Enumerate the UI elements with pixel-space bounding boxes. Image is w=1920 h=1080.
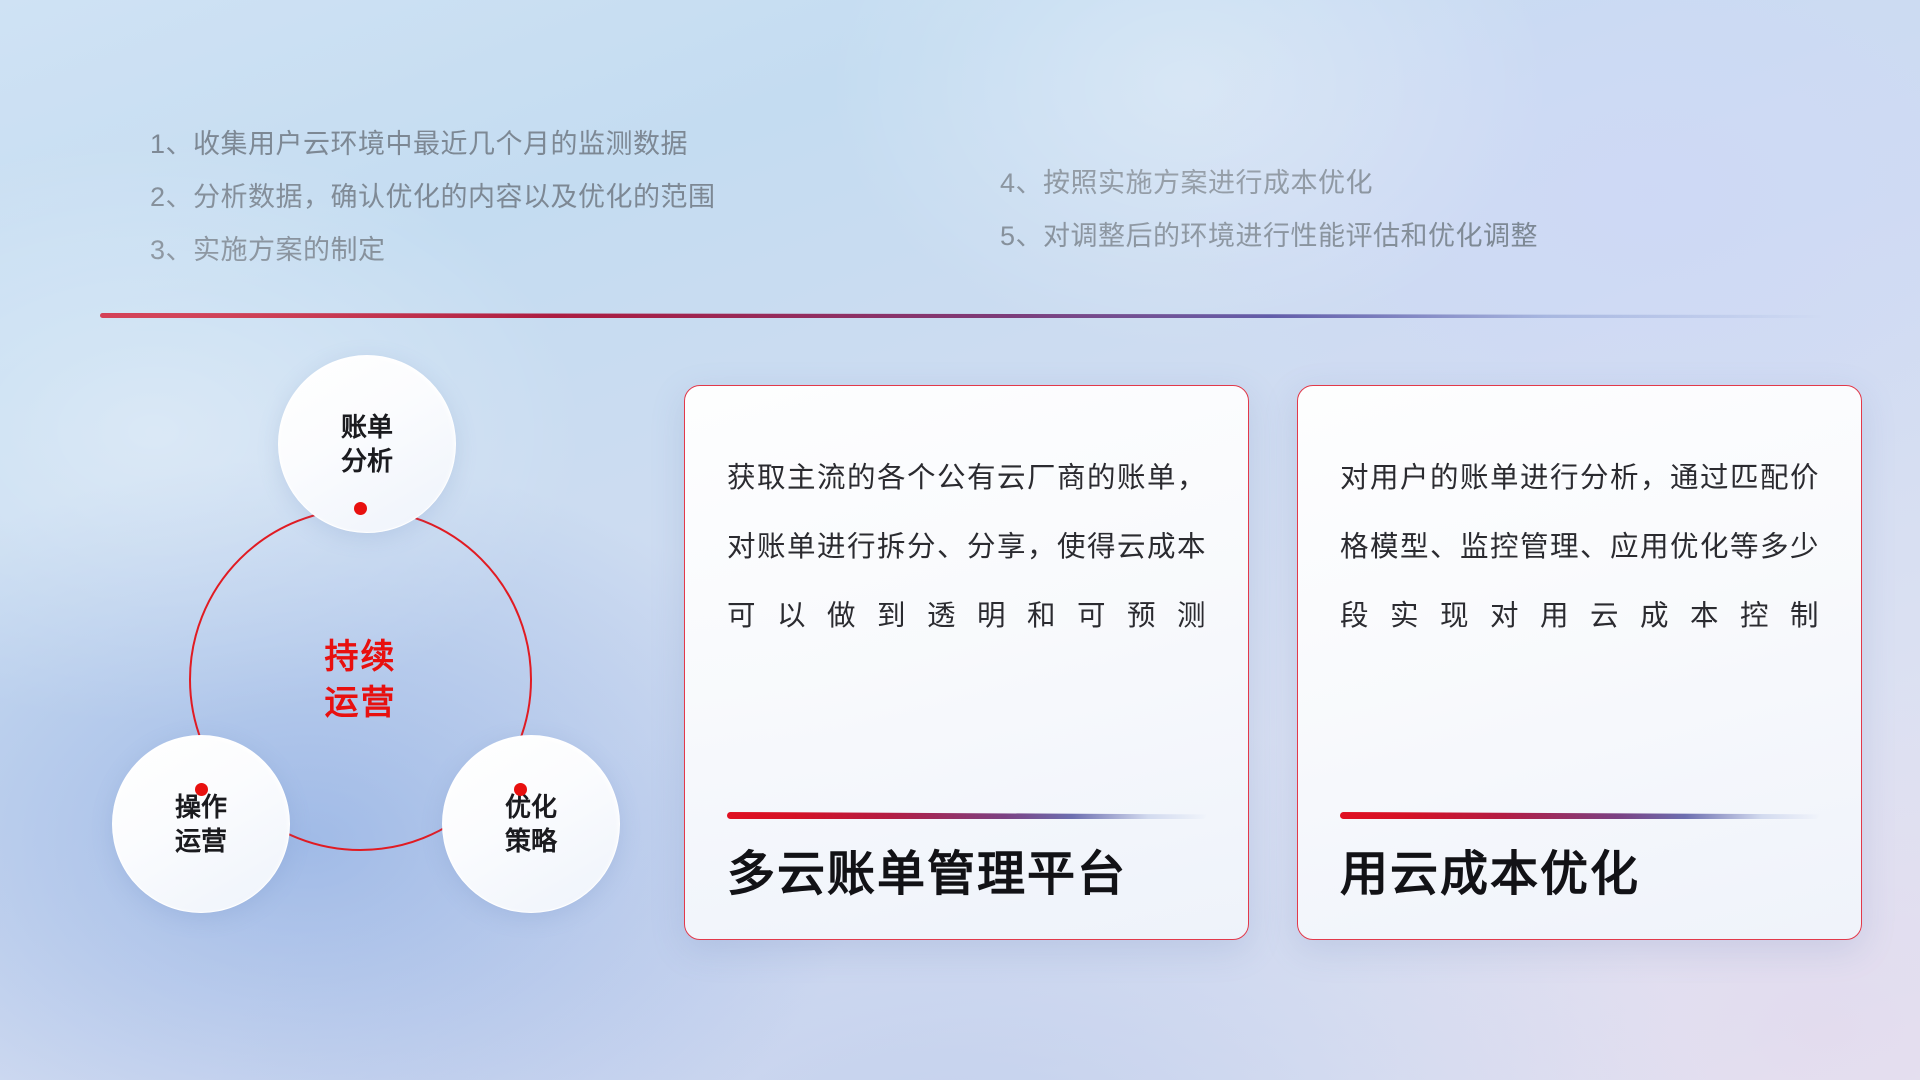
card-title: 用云成本优化 [1340,845,1819,905]
bubble-billing-analysis[interactable]: 账单 分析 [278,355,456,533]
bubble-label-line2: 分析 [341,444,393,478]
step-item-5: 5、对调整后的环境进行性能评估和优化调整 [1000,210,1538,263]
card-body-text: 获取主流的各个公有云厂商的账单，对账单进行拆分、分享，使得云成本可以做到透明和可… [727,444,1206,802]
feature-card-cost-optimization[interactable]: 对用户的账单进行分析，通过匹配价格模型、监控管理、应用优化等多少段实现对用云成本… [1297,385,1862,940]
step-item-2: 2、分析数据，确认优化的内容以及优化的范围 [150,171,716,224]
card-accent-rule [727,812,1206,819]
step-item-1: 1、收集用户云环境中最近几个月的监测数据 [150,118,716,171]
steps-list-left: 1、收集用户云环境中最近几个月的监测数据 2、分析数据，确认优化的内容以及优化的… [150,118,716,277]
step-item-3: 3、实施方案的制定 [150,224,716,277]
node-dot-icon [514,783,527,796]
bubble-label-line1: 账单 [341,410,393,444]
step-item-4: 4、按照实施方案进行成本优化 [1000,157,1538,210]
node-dot-icon [354,502,367,515]
section-divider [100,313,1822,318]
bubble-label-line1: 优化 [505,790,557,824]
steps-list-right: 4、按照实施方案进行成本优化 5、对调整后的环境进行性能评估和优化调整 [1000,157,1538,263]
card-body-text: 对用户的账单进行分析，通过匹配价格模型、监控管理、应用优化等多少段实现对用云成本… [1340,444,1819,802]
slide-canvas: 1、收集用户云环境中最近几个月的监测数据 2、分析数据，确认优化的内容以及优化的… [0,0,1920,1080]
bubble-operations[interactable]: 操作 运营 [112,735,290,913]
card-accent-rule [1340,812,1819,819]
node-dot-icon [195,783,208,796]
bubble-label-line2: 运营 [175,824,227,858]
bubble-label-line2: 策略 [505,824,557,858]
card-title: 多云账单管理平台 [727,845,1206,905]
cycle-diagram: 持续 运营 账单 分析 操作 运营 优化 策略 [100,355,620,955]
bubble-optimization-strategy[interactable]: 优化 策略 [442,735,620,913]
feature-card-multicloud-billing[interactable]: 获取主流的各个公有云厂商的账单，对账单进行拆分、分享，使得云成本可以做到透明和可… [684,385,1249,940]
